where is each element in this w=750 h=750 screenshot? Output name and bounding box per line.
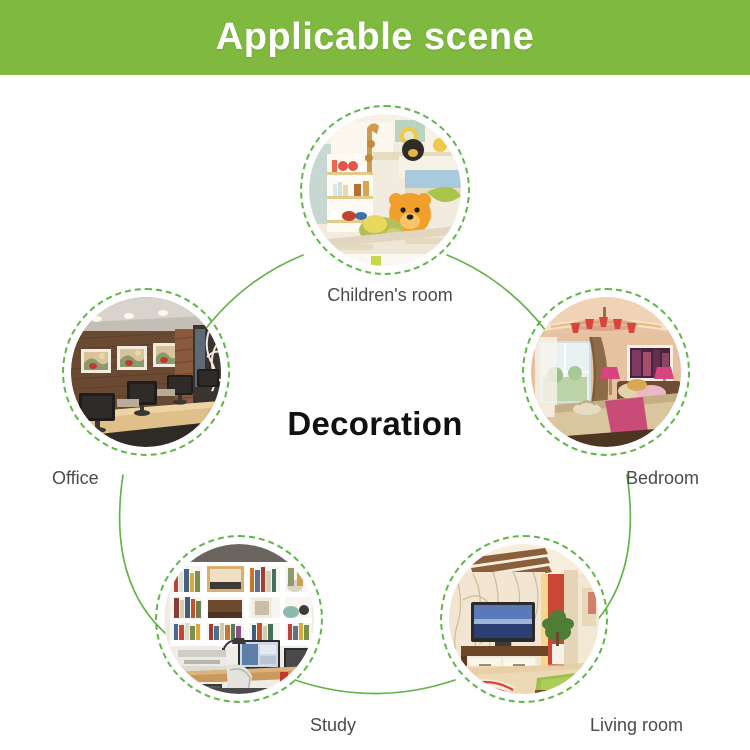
node-living-room[interactable]: Living room xyxy=(440,535,608,703)
node-office[interactable]: Office xyxy=(62,288,230,456)
node-label-study: Study xyxy=(310,715,356,736)
node-label-office: Office xyxy=(52,468,99,489)
node-label-bedroom: Bedroom xyxy=(626,468,699,489)
photo-childrens-room xyxy=(309,114,461,266)
photo-bedroom xyxy=(531,297,681,447)
photo-office xyxy=(71,297,221,447)
header-bar: Applicable scene xyxy=(0,0,750,75)
page-title: Applicable scene xyxy=(216,16,534,59)
node-study[interactable]: Study xyxy=(155,535,323,703)
node-label-childrens-room: Children's room xyxy=(305,285,475,306)
photo-study xyxy=(164,544,314,694)
diagram-stage: Decoration xyxy=(0,75,750,750)
node-bedroom[interactable]: Bedroom xyxy=(522,288,690,456)
photo-living-room xyxy=(449,544,599,694)
node-label-living-room: Living room xyxy=(590,715,683,736)
node-childrens-room[interactable]: Children's room xyxy=(300,105,470,275)
